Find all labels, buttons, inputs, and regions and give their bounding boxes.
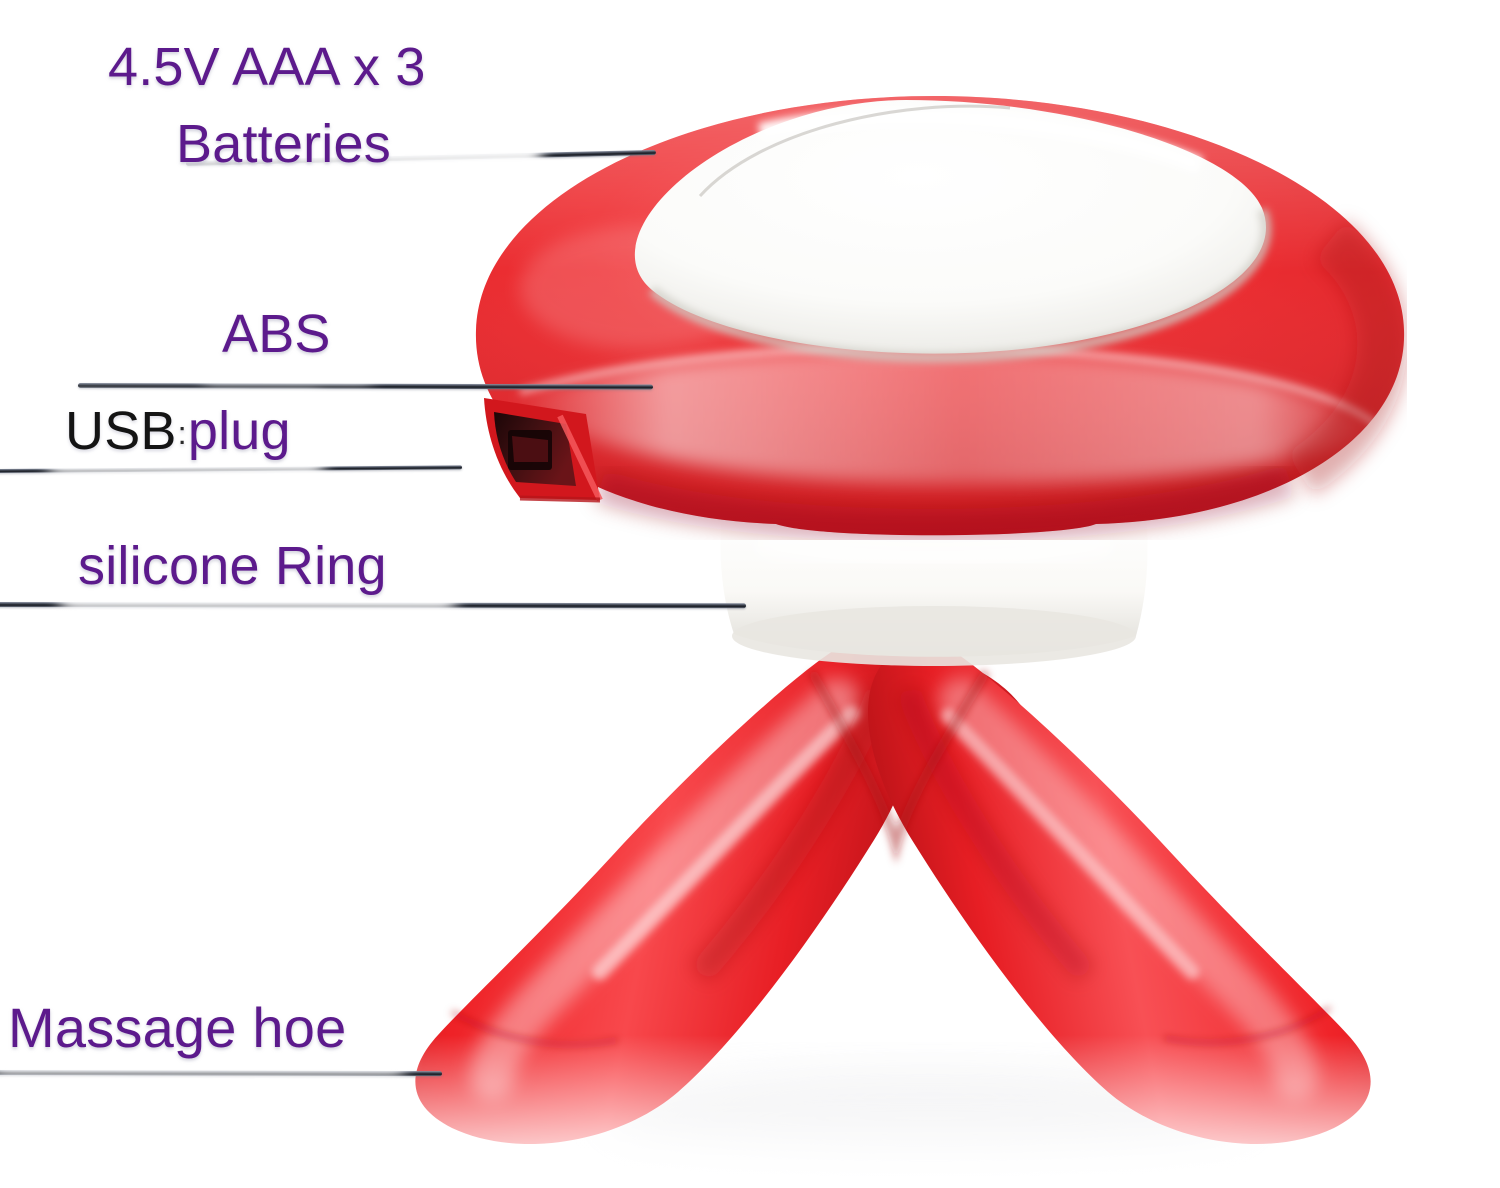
label-silicone-ring: silicone Ring [78,535,387,597]
label-usb-separator: : [177,415,188,451]
label-plug-word: plug [188,401,291,461]
label-massage-hoe: Massage hoe [8,995,346,1060]
label-batteries-line1: 4.5V AAA x 3 [108,36,426,98]
label-batteries-line2: Batteries [176,113,391,175]
label-usb-plug: USB:plug [65,400,291,462]
bottom-depth-fade [380,1035,1440,1188]
label-usb-word: USB [65,401,177,461]
label-abs: ABS [222,303,331,365]
product-annotation-image: 4.5V AAA x 3 Batteries ABS USB:plug sili… [0,0,1500,1188]
